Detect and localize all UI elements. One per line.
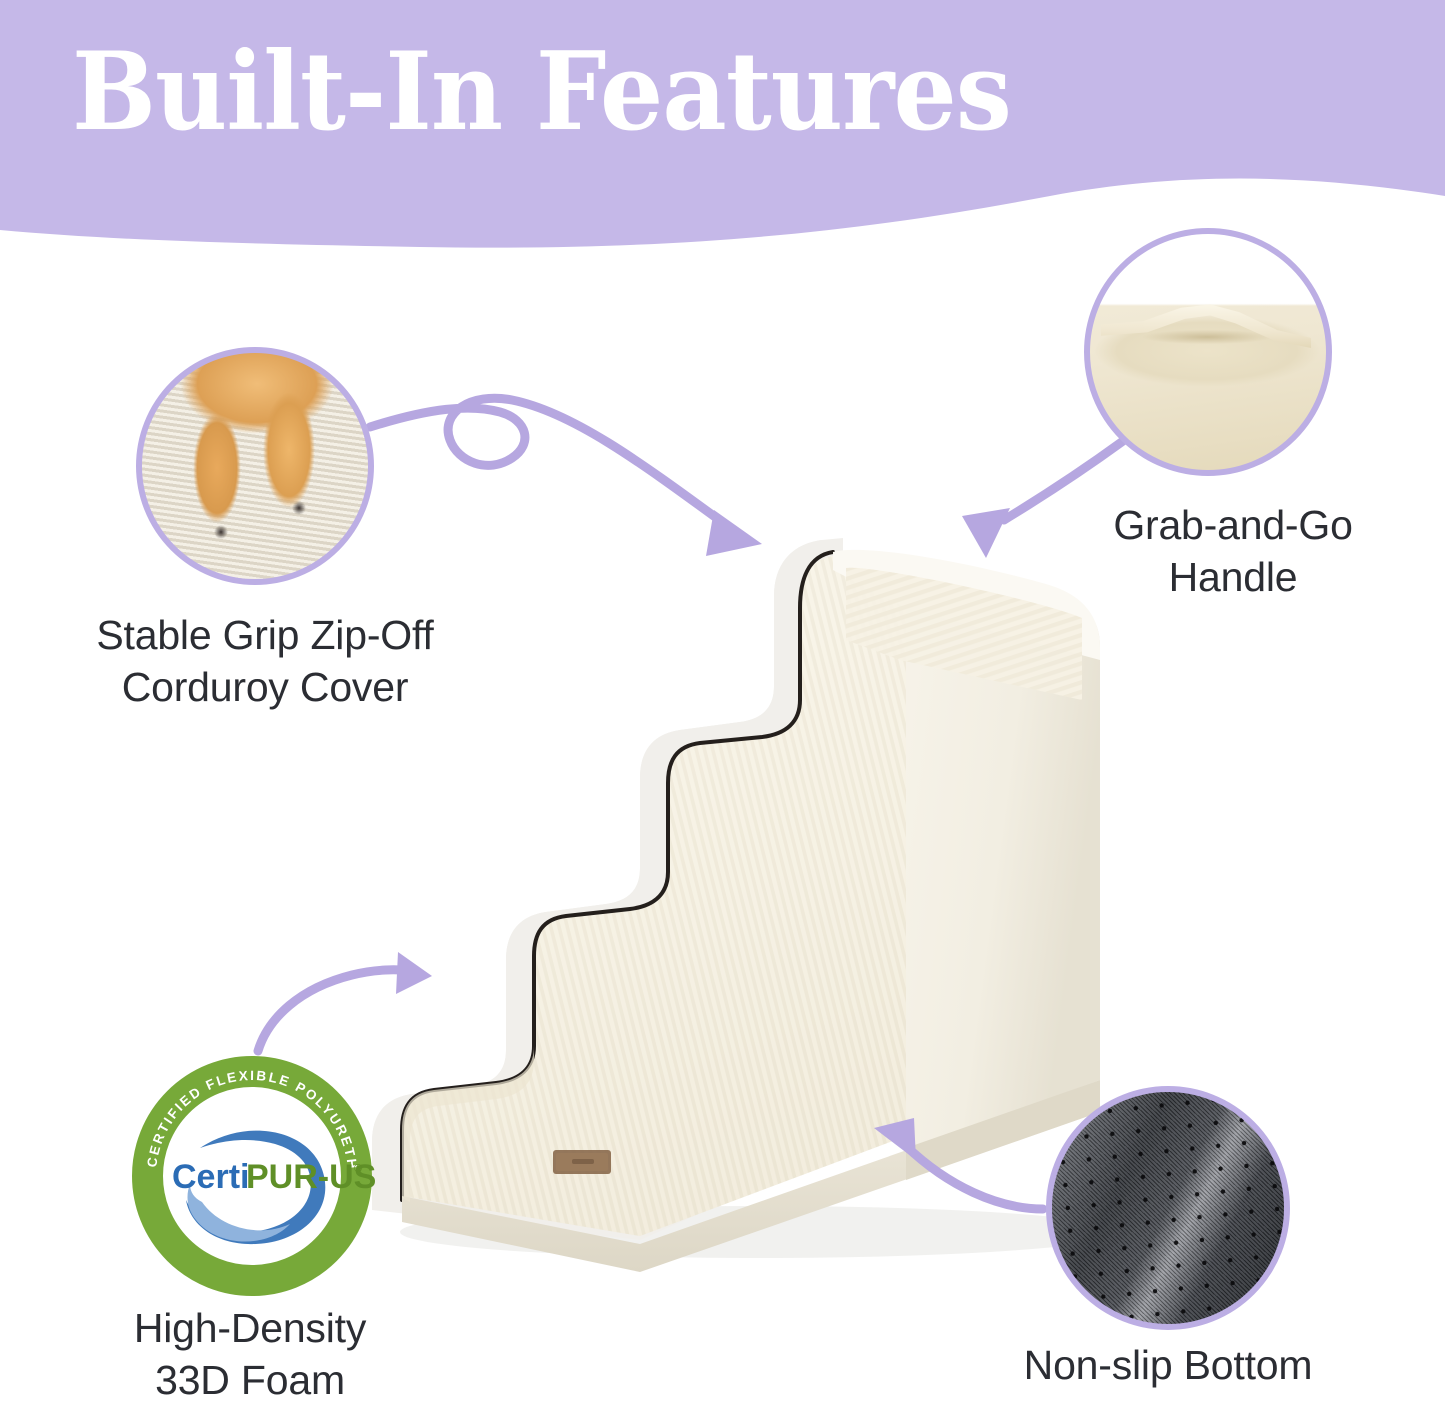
product-base-strip	[402, 1082, 1100, 1272]
label-handle: Grab-and-Go Handle	[1048, 500, 1418, 603]
arrow-nonslip-head	[874, 1118, 916, 1160]
product-brand-tag	[553, 1150, 611, 1174]
page-title: Built-In Features	[72, 36, 1011, 149]
infographic-canvas: Built-In Features	[0, 0, 1445, 1400]
label-foam: High-Density 33D Foam	[50, 1303, 450, 1406]
product-right-block	[833, 552, 1100, 1150]
callout-ring-handle	[1084, 228, 1332, 476]
arrow-foam-path	[258, 970, 410, 1051]
arrow-nonslip-path	[906, 1146, 1043, 1209]
label-nonslip: Non-slip Bottom	[938, 1340, 1398, 1392]
arrow-cover-path	[370, 398, 722, 522]
label-corduroy-cover: Stable Grip Zip-Off Corduroy Cover	[20, 610, 510, 713]
arrow-cover-head	[706, 510, 762, 556]
header-band: Built-In Features	[0, 0, 1445, 260]
callout-ring-corduroy	[136, 347, 374, 585]
callout-ring-nonslip	[1046, 1086, 1290, 1330]
callout-ring-foam	[128, 1052, 376, 1300]
arrow-handle-head	[962, 508, 1010, 558]
arrow-foam-head	[396, 952, 432, 994]
product-steps	[846, 568, 1082, 700]
